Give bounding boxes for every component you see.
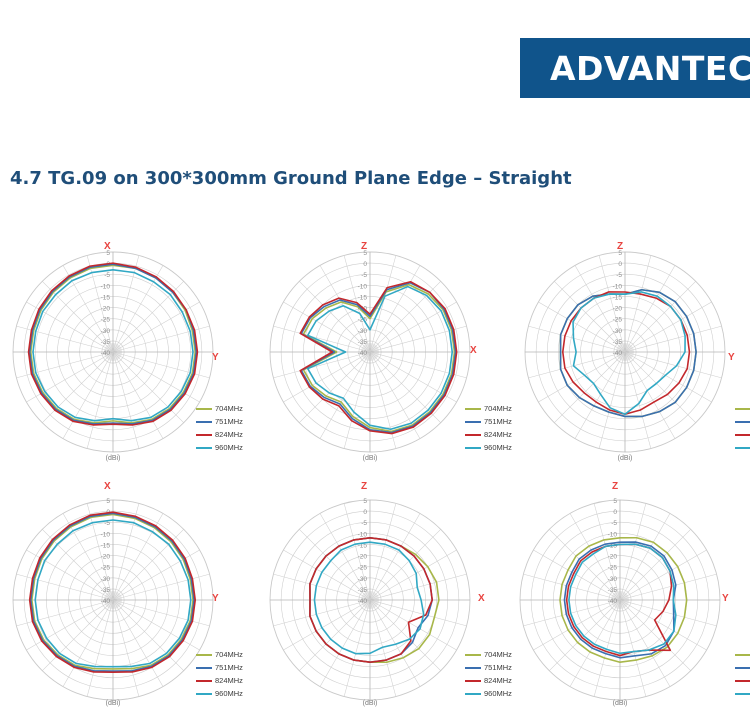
legend-label: 824MHz bbox=[484, 428, 512, 441]
svg-text:-25: -25 bbox=[101, 317, 111, 324]
legend-swatch-icon bbox=[735, 680, 750, 682]
legend-label: 704MHz bbox=[215, 402, 243, 415]
svg-text:-10: -10 bbox=[608, 531, 618, 538]
svg-text:-40: -40 bbox=[608, 598, 618, 605]
legend-swatch-icon bbox=[196, 667, 212, 669]
svg-text:-30: -30 bbox=[608, 576, 618, 583]
legend-label: 960MHz bbox=[484, 687, 512, 700]
axis-label-right: Y bbox=[722, 593, 729, 604]
unit-label: (dBi) bbox=[93, 455, 133, 462]
svg-text:-10: -10 bbox=[358, 283, 368, 290]
legend-item-751MHz: 751MHz bbox=[196, 415, 243, 428]
legend-swatch-icon bbox=[465, 693, 481, 695]
svg-text:-30: -30 bbox=[358, 328, 368, 335]
axis-label-top: Z bbox=[617, 241, 623, 252]
svg-text:5: 5 bbox=[106, 498, 110, 505]
legend-swatch-icon bbox=[465, 421, 481, 423]
legend-swatch-icon bbox=[196, 654, 212, 656]
legend-swatch-icon bbox=[196, 408, 212, 410]
svg-text:-40: -40 bbox=[101, 350, 111, 357]
unit-label: (dBi) bbox=[600, 700, 640, 707]
legend-swatch-icon bbox=[735, 434, 750, 436]
polar-plot-svg: 50-5-10-15-20-25-30-35-40 bbox=[265, 495, 475, 705]
chart-legend: 704MHz751MHz824MHz960MHz bbox=[196, 402, 243, 454]
legend-swatch-icon bbox=[735, 447, 750, 449]
svg-text:-30: -30 bbox=[101, 576, 111, 583]
legend-item-704MHz: 704MHz bbox=[196, 402, 243, 415]
svg-text:-15: -15 bbox=[613, 294, 623, 301]
legend-swatch-icon bbox=[465, 408, 481, 410]
axis-label-top: X bbox=[104, 241, 111, 252]
legend-item-960MHz: 960MHz bbox=[196, 687, 243, 700]
chart-legend: 704MHz751MHz824MHz960MHz bbox=[735, 402, 750, 454]
chart-legend: 704MHz751MHz824MHz960MHz bbox=[735, 648, 750, 700]
axis-label-top: X bbox=[104, 481, 111, 492]
legend-swatch-icon bbox=[735, 693, 750, 695]
axis-label-right: X bbox=[470, 345, 477, 356]
legend-item-824MHz: 824MHz bbox=[465, 674, 512, 687]
svg-text:-10: -10 bbox=[613, 283, 623, 290]
svg-text:-5: -5 bbox=[616, 272, 622, 279]
legend-label: 960MHz bbox=[215, 441, 243, 454]
legend-item-960MHz: 960MHz bbox=[735, 687, 750, 700]
svg-text:-20: -20 bbox=[358, 554, 368, 561]
chart-legend: 704MHz751MHz824MHz960MHz bbox=[465, 402, 512, 454]
svg-text:-40: -40 bbox=[613, 350, 623, 357]
legend-label: 824MHz bbox=[484, 674, 512, 687]
svg-text:0: 0 bbox=[613, 509, 617, 516]
legend-item-960MHz: 960MHz bbox=[735, 441, 750, 454]
series-704MHz bbox=[303, 285, 454, 432]
svg-text:-5: -5 bbox=[361, 272, 367, 279]
svg-text:-10: -10 bbox=[101, 283, 111, 290]
svg-text:-35: -35 bbox=[358, 587, 368, 594]
page-title: 4.7 TG.09 on 300*300mm Ground Plane Edge… bbox=[10, 168, 572, 189]
svg-text:-5: -5 bbox=[361, 520, 367, 527]
legend-swatch-icon bbox=[465, 654, 481, 656]
svg-text:-25: -25 bbox=[613, 317, 623, 324]
svg-text:0: 0 bbox=[363, 261, 367, 268]
legend-item-960MHz: 960MHz bbox=[196, 441, 243, 454]
svg-text:-35: -35 bbox=[101, 339, 111, 346]
svg-text:-15: -15 bbox=[101, 294, 111, 301]
axis-label-right: Y bbox=[212, 352, 219, 363]
svg-text:-25: -25 bbox=[358, 565, 368, 572]
svg-text:5: 5 bbox=[613, 498, 617, 505]
svg-text:-5: -5 bbox=[104, 272, 110, 279]
advantech-logo-text: ADVANTECH bbox=[550, 49, 750, 88]
polar-plot-svg: 50-5-10-15-20-25-30-35-40 bbox=[265, 247, 475, 457]
svg-text:-15: -15 bbox=[358, 294, 368, 301]
axis-label-top: Z bbox=[361, 481, 367, 492]
legend-item-960MHz: 960MHz bbox=[465, 687, 512, 700]
axis-label-right: Y bbox=[728, 352, 735, 363]
svg-text:-15: -15 bbox=[101, 542, 111, 549]
svg-text:-35: -35 bbox=[613, 339, 623, 346]
polar-chart-6: 50-5-10-15-20-25-30-35-40 bbox=[515, 495, 725, 705]
legend-swatch-icon bbox=[465, 680, 481, 682]
legend-swatch-icon bbox=[196, 421, 212, 423]
legend-item-960MHz: 960MHz bbox=[465, 441, 512, 454]
unit-label: (dBi) bbox=[350, 700, 390, 707]
legend-swatch-icon bbox=[196, 693, 212, 695]
unit-label: (dBi) bbox=[350, 455, 390, 462]
svg-text:-20: -20 bbox=[101, 554, 111, 561]
svg-text:-10: -10 bbox=[358, 531, 368, 538]
legend-item-751MHz: 751MHz bbox=[735, 415, 750, 428]
legend-label: 751MHz bbox=[484, 415, 512, 428]
axis-label-right: X bbox=[478, 593, 485, 604]
legend-item-704MHz: 704MHz bbox=[735, 402, 750, 415]
svg-text:0: 0 bbox=[618, 261, 622, 268]
polar-chart-4: 50-5-10-15-20-25-30-35-40 bbox=[8, 495, 218, 705]
svg-text:-30: -30 bbox=[101, 328, 111, 335]
legend-swatch-icon bbox=[465, 667, 481, 669]
legend-label: 751MHz bbox=[215, 415, 243, 428]
chart-legend: 704MHz751MHz824MHz960MHz bbox=[465, 648, 512, 700]
svg-text:-25: -25 bbox=[101, 565, 111, 572]
legend-label: 751MHz bbox=[484, 661, 512, 674]
legend-swatch-icon bbox=[465, 447, 481, 449]
svg-text:-10: -10 bbox=[101, 531, 111, 538]
svg-text:-20: -20 bbox=[101, 306, 111, 313]
svg-text:-40: -40 bbox=[358, 350, 368, 357]
polar-chart-3: 50-5-10-15-20-25-30-35-40 bbox=[520, 247, 730, 457]
polar-plot-svg: 50-5-10-15-20-25-30-35-40 bbox=[520, 247, 730, 457]
svg-text:5: 5 bbox=[363, 498, 367, 505]
legend-label: 960MHz bbox=[215, 687, 243, 700]
polar-plot-svg: 50-5-10-15-20-25-30-35-40 bbox=[8, 247, 218, 457]
polar-chart-1: 50-5-10-15-20-25-30-35-40 bbox=[8, 247, 218, 457]
svg-text:-20: -20 bbox=[613, 306, 623, 313]
unit-label: (dBi) bbox=[93, 700, 133, 707]
svg-text:-20: -20 bbox=[608, 554, 618, 561]
chart-legend: 704MHz751MHz824MHz960MHz bbox=[196, 648, 243, 700]
legend-item-824MHz: 824MHz bbox=[196, 674, 243, 687]
svg-text:-40: -40 bbox=[358, 598, 368, 605]
svg-text:-35: -35 bbox=[608, 587, 618, 594]
legend-swatch-icon bbox=[465, 434, 481, 436]
svg-text:0: 0 bbox=[363, 509, 367, 516]
svg-text:-30: -30 bbox=[613, 328, 623, 335]
legend-swatch-icon bbox=[735, 667, 750, 669]
legend-item-824MHz: 824MHz bbox=[735, 428, 750, 441]
legend-item-824MHz: 824MHz bbox=[735, 674, 750, 687]
legend-item-751MHz: 751MHz bbox=[196, 661, 243, 674]
unit-label: (dBi) bbox=[605, 455, 645, 462]
svg-text:-5: -5 bbox=[611, 520, 617, 527]
legend-label: 824MHz bbox=[215, 674, 243, 687]
svg-text:-35: -35 bbox=[358, 339, 368, 346]
polar-chart-2: 50-5-10-15-20-25-30-35-40 bbox=[265, 247, 475, 457]
polar-plot-svg: 50-5-10-15-20-25-30-35-40 bbox=[8, 495, 218, 705]
polar-plot-svg: 50-5-10-15-20-25-30-35-40 bbox=[515, 495, 725, 705]
legend-label: 751MHz bbox=[215, 661, 243, 674]
legend-label: 960MHz bbox=[484, 441, 512, 454]
legend-swatch-icon bbox=[196, 680, 212, 682]
svg-text:-30: -30 bbox=[358, 576, 368, 583]
legend-swatch-icon bbox=[735, 654, 750, 656]
legend-label: 704MHz bbox=[484, 402, 512, 415]
axis-label-top: Z bbox=[612, 481, 618, 492]
axis-label-right: Y bbox=[212, 593, 219, 604]
svg-text:-35: -35 bbox=[101, 587, 111, 594]
advantech-logo-banner: ADVANTECH bbox=[520, 38, 750, 98]
legend-swatch-icon bbox=[735, 408, 750, 410]
legend-item-751MHz: 751MHz bbox=[735, 661, 750, 674]
svg-text:-40: -40 bbox=[101, 598, 111, 605]
polar-chart-5: 50-5-10-15-20-25-30-35-40 bbox=[265, 495, 475, 705]
legend-swatch-icon bbox=[196, 434, 212, 436]
legend-item-751MHz: 751MHz bbox=[465, 661, 512, 674]
legend-swatch-icon bbox=[196, 447, 212, 449]
axis-label-top: Z bbox=[361, 241, 367, 252]
legend-item-824MHz: 824MHz bbox=[196, 428, 243, 441]
legend-label: 824MHz bbox=[215, 428, 243, 441]
legend-item-824MHz: 824MHz bbox=[465, 428, 512, 441]
legend-swatch-icon bbox=[735, 421, 750, 423]
legend-item-751MHz: 751MHz bbox=[465, 415, 512, 428]
svg-text:-25: -25 bbox=[608, 565, 618, 572]
legend-item-704MHz: 704MHz bbox=[465, 402, 512, 415]
